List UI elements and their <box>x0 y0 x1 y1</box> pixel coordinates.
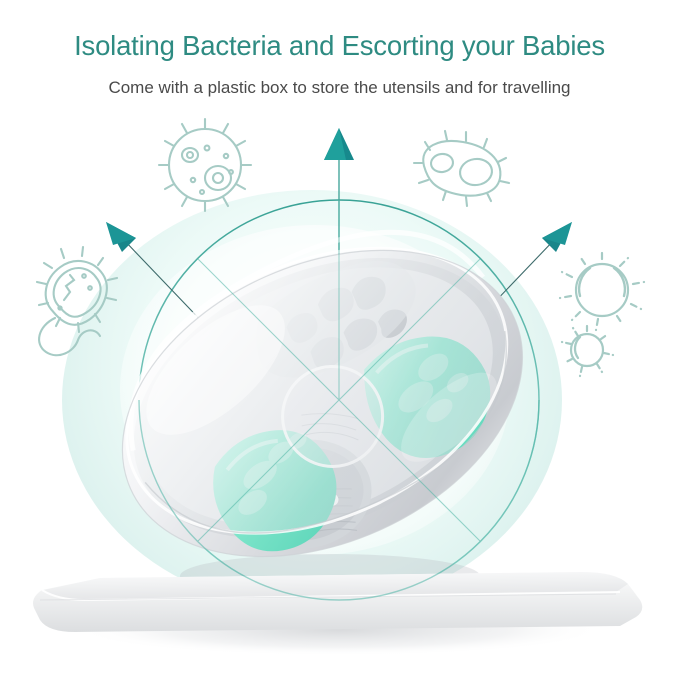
barrier-overlay-layer <box>0 0 679 679</box>
product-infographic: Isolating Bacteria and Escorting your Ba… <box>0 0 679 679</box>
arrow-guide-lines <box>198 200 480 541</box>
barrier-ring-front <box>139 400 539 600</box>
